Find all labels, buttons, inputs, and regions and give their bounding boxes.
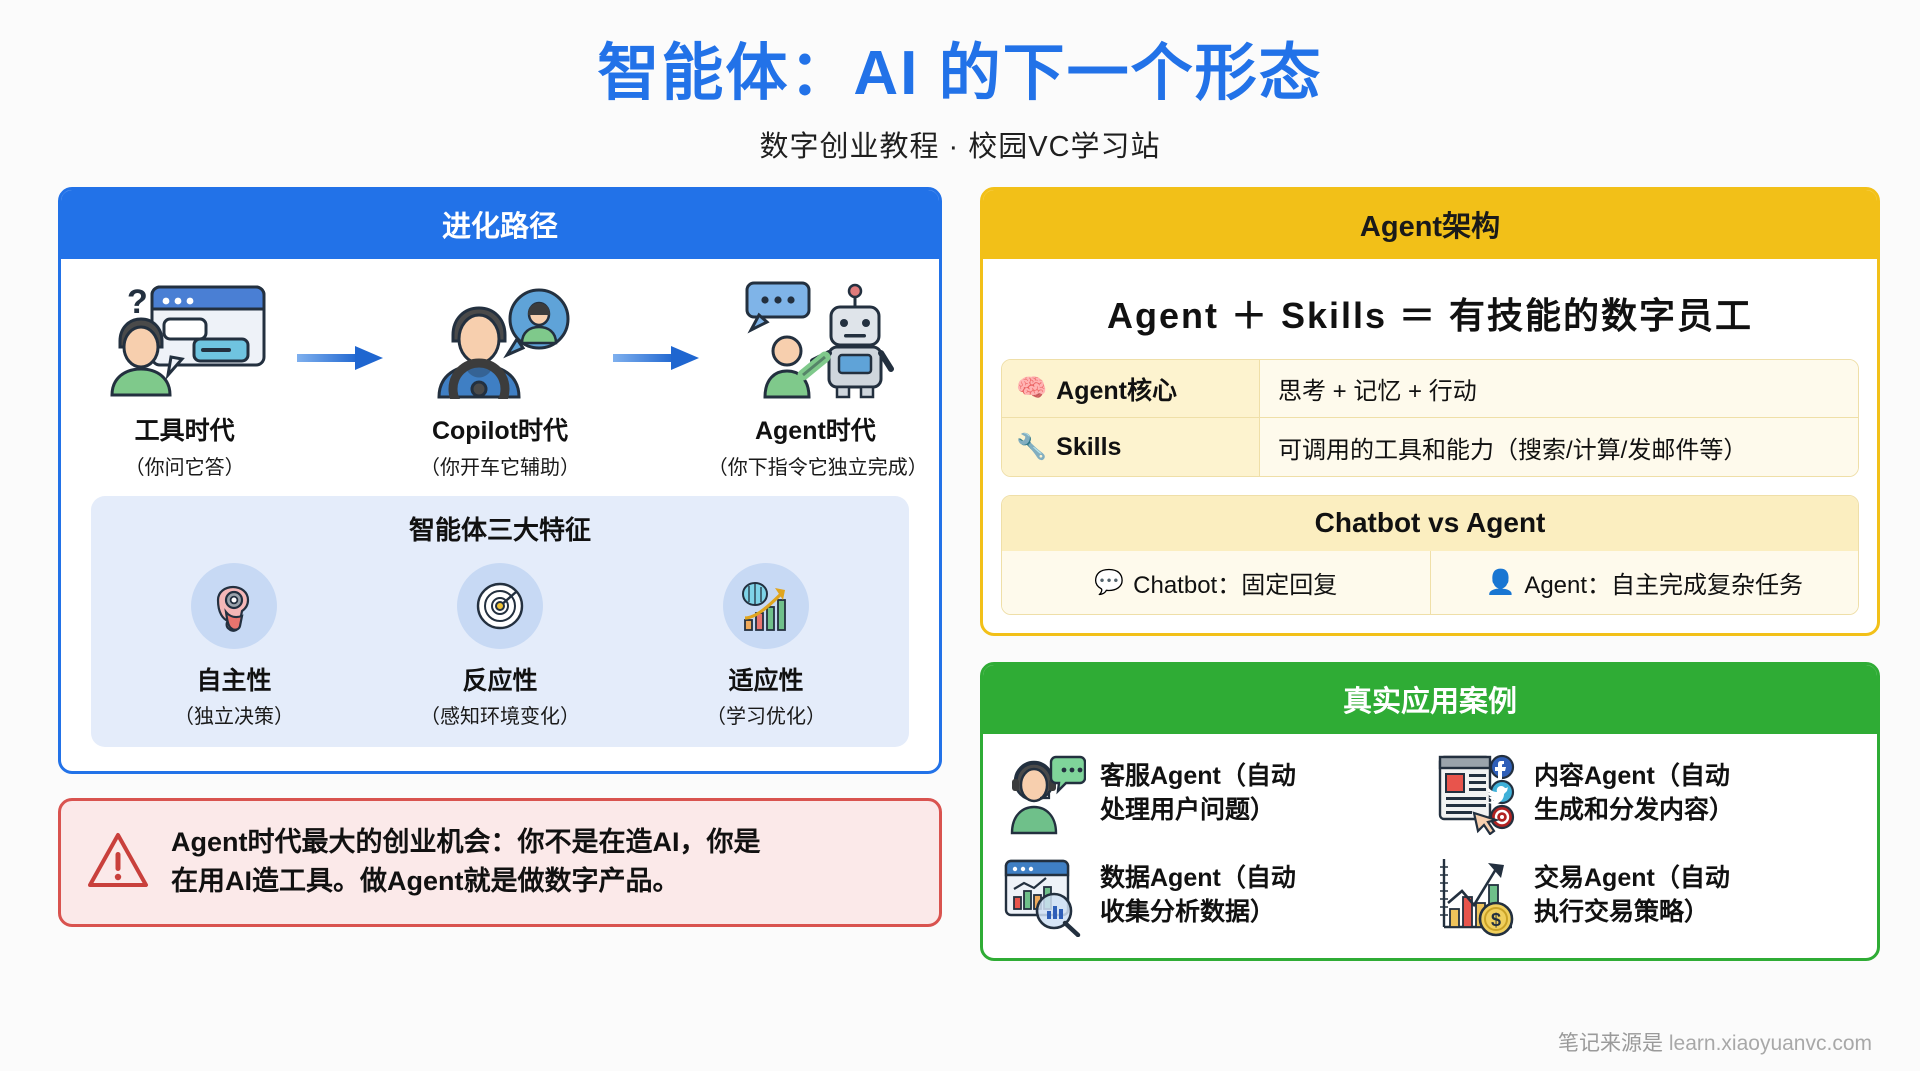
- warning-line-2: 在用AI造工具。做Agent就是做数字产品。: [171, 862, 761, 901]
- architecture-row-value: 思考 + 记忆 + 行动: [1260, 360, 1858, 417]
- chatbot-vs-agent-block: Chatbot vs Agent 💬 Chatbot：固定回复 👤 Agent：…: [1001, 495, 1859, 615]
- architecture-row-key: 🧠 Agent核心: [1002, 360, 1260, 417]
- case-detail-2: 执行交易策略）: [1534, 895, 1730, 930]
- trait-name: 反应性: [380, 661, 620, 697]
- warning-box: Agent时代最大的创业机会：你不是在造AI，你是 在用AI造工具。做Agent…: [58, 798, 942, 926]
- traits-row: 自主性 （独立决策）: [101, 563, 899, 729]
- evolution-body: ? 工具时代 （你问它答）: [61, 259, 939, 771]
- case-detail-1: （自动: [1655, 762, 1730, 790]
- table-row: 🧠 Agent核心 思考 + 记忆 + 行动: [1002, 360, 1858, 418]
- trait-sub: （独立决策）: [114, 700, 354, 729]
- right-arrow-icon: [608, 343, 708, 415]
- support-agent-icon: [1001, 750, 1087, 836]
- trait-reactivity: 反应性 （感知环境变化）: [380, 563, 620, 729]
- right-arrow-icon: [292, 343, 392, 415]
- right-column: Agent架构 Agent ＋ Skills ＝ 有技能的数字员工 🧠 Agen…: [980, 187, 1880, 961]
- person-driving-copilot-icon: [392, 277, 607, 399]
- trait-sub: （感知环境变化）: [380, 700, 620, 729]
- case-data: 数据Agent（自动 收集分析数据）: [1001, 852, 1425, 938]
- head-thinking-icon: 🧠: [1016, 374, 1047, 403]
- architecture-panel-title: Agent架构: [983, 190, 1877, 259]
- evolution-stage-name: Agent时代: [708, 411, 923, 447]
- data-dashboard-icon: [1001, 852, 1087, 938]
- footer-source: 笔记来源是 learn.xiaoyuanvc.com: [1558, 1027, 1872, 1057]
- case-name: 交易Agent: [1534, 864, 1655, 892]
- page-title: 智能体：AI 的下一个形态: [0, 38, 1920, 109]
- case-detail-1: （自动: [1655, 864, 1730, 892]
- footer-url: learn.xiaoyuanvc.com: [1669, 1032, 1872, 1055]
- architecture-row-key: 🔧 Skills: [1002, 418, 1260, 476]
- content-publish-icon: [1435, 750, 1521, 836]
- evolution-panel: 进化路径: [58, 187, 942, 774]
- evolution-stage-sub: （你开车它辅助）: [392, 451, 607, 480]
- case-detail-2: 处理用户问题）: [1100, 793, 1296, 828]
- case-detail-2: 收集分析数据）: [1100, 895, 1296, 930]
- case-text: 内容Agent（自动 生成和分发内容）: [1534, 759, 1734, 828]
- content-columns: 进化路径: [0, 165, 1920, 961]
- svg-text:$: $: [1491, 910, 1501, 930]
- traits-title: 智能体三大特征: [101, 510, 899, 547]
- trait-adaptability: 适应性 （学习优化）: [646, 563, 886, 729]
- infographic-page: 智能体：AI 的下一个形态 数字创业教程 · 校园VC学习站 进化路径: [0, 0, 1920, 1071]
- compare-text: Agent：自主完成复杂任务: [1524, 565, 1803, 600]
- evolution-stage-copilot: Copilot时代 （你开车它辅助）: [392, 277, 607, 480]
- case-detail-2: 生成和分发内容）: [1534, 793, 1734, 828]
- case-text: 客服Agent（自动 处理用户问题）: [1100, 759, 1296, 828]
- trait-name: 自主性: [114, 661, 354, 697]
- compare-cell-agent: 👤 Agent：自主完成复杂任务: [1430, 551, 1859, 614]
- table-row: 🔧 Skills 可调用的工具和能力（搜索/计算/发邮件等）: [1002, 418, 1858, 476]
- office-worker-icon: 👤: [1485, 568, 1515, 597]
- architecture-row-value: 可调用的工具和能力（搜索/计算/发邮件等）: [1260, 418, 1858, 476]
- page-subtitle: 数字创业教程 · 校园VC学习站: [0, 123, 1920, 165]
- architecture-table: 🧠 Agent核心 思考 + 记忆 + 行动 🔧 Skills 可调用的工具和能…: [1001, 359, 1859, 477]
- chatbot-vs-agent-title: Chatbot vs Agent: [1002, 496, 1858, 551]
- traits-section: 智能体三大特征: [91, 496, 909, 747]
- architecture-key-label: Agent核心: [1056, 371, 1177, 407]
- warning-triangle-icon: [87, 831, 149, 894]
- case-text: 交易Agent（自动 执行交易策略）: [1534, 861, 1730, 930]
- chatbot-vs-agent-row: 💬 Chatbot：固定回复 👤 Agent：自主完成复杂任务: [1002, 551, 1858, 614]
- case-text: 数据Agent（自动 收集分析数据）: [1100, 861, 1296, 930]
- wrench-icon: 🔧: [1016, 433, 1047, 462]
- person-commanding-robot-icon: [708, 277, 923, 399]
- brain-growth-chart-icon: [723, 563, 809, 649]
- compare-text: Chatbot：固定回复: [1133, 565, 1337, 600]
- radar-icon: [457, 563, 543, 649]
- case-content: 内容Agent（自动 生成和分发内容）: [1435, 750, 1859, 836]
- speech-bubble-icon: 💬: [1094, 568, 1124, 597]
- trait-sub: （学习优化）: [646, 700, 886, 729]
- evolution-stage-name: Copilot时代: [392, 411, 607, 447]
- trait-name: 适应性: [646, 661, 886, 697]
- trading-chart-icon: $: [1435, 852, 1521, 938]
- cases-grid: 客服Agent（自动 处理用户问题）: [983, 734, 1877, 958]
- evolution-stages-row: ? 工具时代 （你问它答）: [77, 277, 923, 480]
- cases-panel-title: 真实应用案例: [983, 665, 1877, 734]
- page-header: 智能体：AI 的下一个形态 数字创业教程 · 校园VC学习站: [0, 0, 1920, 165]
- case-detail-1: （自动: [1221, 864, 1296, 892]
- trait-autonomy: 自主性 （独立决策）: [114, 563, 354, 729]
- case-detail-1: （自动: [1221, 762, 1296, 790]
- architecture-body: Agent ＋ Skills ＝ 有技能的数字员工 🧠 Agent核心 思考 +…: [983, 259, 1877, 633]
- evolution-stage-sub: （你下指令它独立完成）: [708, 451, 923, 480]
- case-name: 数据Agent: [1100, 864, 1221, 892]
- evolution-stage-name: 工具时代: [77, 411, 292, 447]
- compare-cell-chatbot: 💬 Chatbot：固定回复: [1002, 551, 1430, 614]
- case-name: 内容Agent: [1534, 762, 1655, 790]
- left-column: 进化路径: [58, 187, 942, 961]
- cases-panel: 真实应用案例: [980, 662, 1880, 961]
- evolution-stage-agent: Agent时代 （你下指令它独立完成）: [708, 277, 923, 480]
- architecture-panel: Agent架构 Agent ＋ Skills ＝ 有技能的数字员工 🧠 Agen…: [980, 187, 1880, 636]
- warning-line-1: Agent时代最大的创业机会：你不是在造AI，你是: [171, 823, 761, 862]
- case-customer-service: 客服Agent（自动 处理用户问题）: [1001, 750, 1425, 836]
- architecture-formula: Agent ＋ Skills ＝ 有技能的数字员工: [1001, 275, 1859, 359]
- evolution-stage-tool: ? 工具时代 （你问它答）: [77, 277, 292, 480]
- warning-text: Agent时代最大的创业机会：你不是在造AI，你是 在用AI造工具。做Agent…: [171, 823, 761, 901]
- case-name: 客服Agent: [1100, 762, 1221, 790]
- evolution-stage-sub: （你问它答）: [77, 451, 292, 480]
- person-question-chat-icon: ?: [77, 277, 292, 399]
- svg-text:?: ?: [127, 283, 148, 321]
- evolution-panel-title: 进化路径: [61, 190, 939, 259]
- footer-prefix: 笔记来源是: [1558, 1032, 1663, 1055]
- case-trading: $ 交易Agent（自动 执行交易策略）: [1435, 852, 1859, 938]
- brain-gear-icon: [191, 563, 277, 649]
- architecture-key-label: Skills: [1056, 433, 1121, 462]
